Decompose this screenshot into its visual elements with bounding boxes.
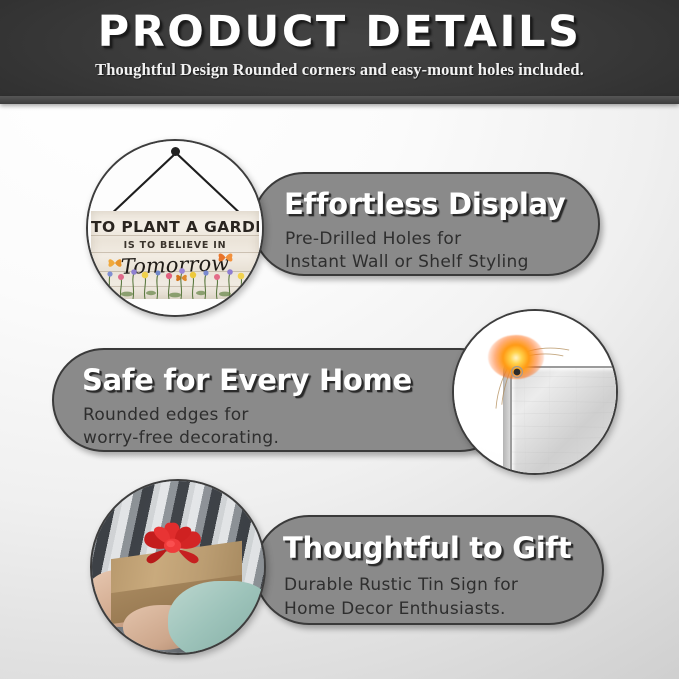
feature-2-body-line-2: worry-free decorating. [83, 430, 279, 447]
sign-text-line-1: TO PLANT A GARDEN [91, 218, 259, 236]
feature-3-panel: Thoughtful to Gift Durable Rustic Tin Si… [254, 515, 604, 625]
feature-2-body-line-1: Rounded edges for [83, 407, 249, 424]
red-ribbon-bow [133, 519, 212, 571]
sign-hanging-knob [171, 147, 180, 156]
sweater-sleeve [168, 581, 266, 655]
wooden-sign-board: TO PLANT A GARDEN IS TO BELIEVE IN Tomor… [91, 211, 259, 299]
header-banner: PRODUCT DETAILS Thoughtful Design Rounde… [0, 0, 679, 96]
mounting-hole-icon [506, 361, 528, 383]
feature-1-body-line-1: Pre-Drilled Holes for [285, 231, 461, 248]
page-title: PRODUCT DETAILS [0, 10, 679, 55]
spark-streak-lines [454, 311, 616, 473]
feature-1-panel: Effortless Display Pre-Drilled Holes for… [252, 172, 600, 276]
feature-3-body-line-1: Durable Rustic Tin Sign for [284, 577, 518, 594]
gift-box-with-red-bow-photo [90, 479, 266, 655]
wildflower-border [91, 265, 259, 299]
feature-2-title: Safe for Every Home [82, 366, 412, 395]
product-details-infographic: PRODUCT DETAILS Thoughtful Design Rounde… [0, 0, 679, 679]
header-divider-strip [0, 96, 679, 104]
feature-3-body-line-2: Home Decor Enthusiasts. [284, 601, 506, 618]
sign-text-line-2: IS TO BELIEVE IN [91, 240, 259, 251]
feature-3-title: Thoughtful to Gift [283, 534, 571, 563]
butterfly-icon [217, 251, 234, 264]
feature-1-body-line-2: Instant Wall or Shelf Styling [285, 254, 529, 271]
rounded-metal-corner-photo [452, 309, 618, 475]
sign-hanging-cord [88, 151, 262, 217]
hanging-garden-sign-photo: TO PLANT A GARDEN IS TO BELIEVE IN Tomor… [86, 139, 264, 317]
header-subtitle: Thoughtful Design Rounded corners and ea… [0, 60, 679, 80]
feature-1-title: Effortless Display [284, 190, 566, 219]
feature-2-panel: Safe for Every Home Rounded edges for wo… [52, 348, 512, 452]
